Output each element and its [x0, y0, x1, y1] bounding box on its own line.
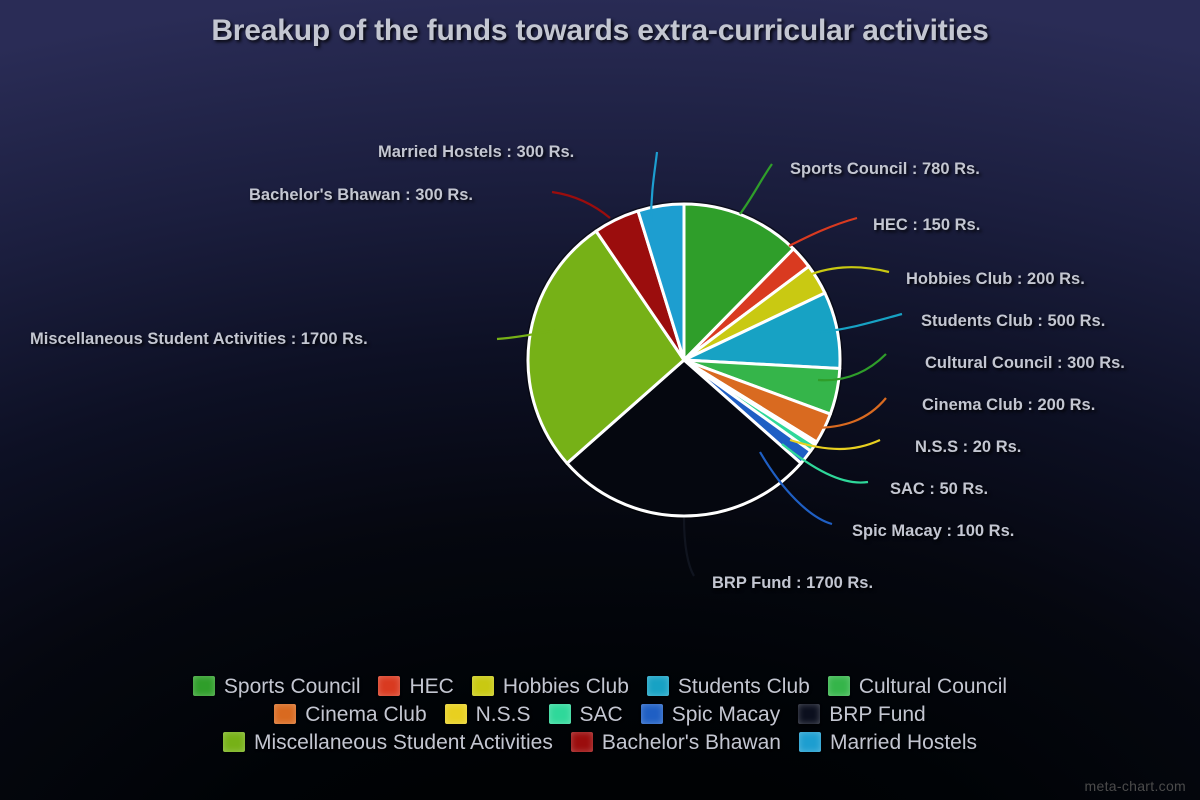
legend-swatch-icon [445, 704, 467, 724]
legend-item-sports-council[interactable]: Sports Council [193, 672, 361, 700]
callout-label-spic-macay: Spic Macay : 100 Rs. [852, 522, 1014, 541]
legend-swatch-icon [571, 732, 593, 752]
legend-item-brp-fund[interactable]: BRP Fund [798, 700, 926, 728]
callout-label-married-hostels: Married Hostels : 300 Rs. [378, 143, 574, 162]
legend-item-label: Hobbies Club [503, 676, 629, 697]
legend-row: Sports CouncilHECHobbies ClubStudents Cl… [60, 672, 1140, 700]
callout-label-cinema-club: Cinema Club : 200 Rs. [922, 396, 1095, 415]
legend-item-label: Miscellaneous Student Activities [254, 732, 553, 753]
legend-swatch-icon [549, 704, 571, 724]
callout-label-hobbies-club: Hobbies Club : 200 Rs. [906, 270, 1085, 289]
legend-item-label: Cultural Council [859, 676, 1007, 697]
legend-swatch-icon [472, 676, 494, 696]
legend-item-label: BRP Fund [829, 704, 926, 725]
legend-item-n-s-s[interactable]: N.S.S [445, 700, 531, 728]
leader-line-bachelors-bhawan [552, 192, 610, 218]
legend-row: Miscellaneous Student ActivitiesBachelor… [60, 728, 1140, 756]
legend-swatch-icon [641, 704, 663, 724]
legend-item-hobbies-club[interactable]: Hobbies Club [472, 672, 629, 700]
legend-swatch-icon [798, 704, 820, 724]
legend-item-bachelor-s-bhawan[interactable]: Bachelor's Bhawan [571, 728, 781, 756]
chart-legend: Sports CouncilHECHobbies ClubStudents Cl… [0, 672, 1200, 756]
legend-swatch-icon [223, 732, 245, 752]
leader-line-hec [789, 218, 857, 246]
legend-item-sac[interactable]: SAC [549, 700, 623, 728]
callout-label-sports-council: Sports Council : 780 Rs. [790, 160, 980, 179]
legend-item-married-hostels[interactable]: Married Hostels [799, 728, 977, 756]
legend-item-label: SAC [580, 704, 623, 725]
legend-swatch-icon [799, 732, 821, 752]
legend-row: Cinema ClubN.S.SSACSpic MacayBRP Fund [60, 700, 1140, 728]
legend-item-label: Sports Council [224, 676, 361, 697]
legend-item-spic-macay[interactable]: Spic Macay [641, 700, 781, 728]
legend-swatch-icon [378, 676, 400, 696]
leader-line-brp-fund [684, 518, 694, 576]
legend-item-label: N.S.S [476, 704, 531, 725]
legend-item-cinema-club[interactable]: Cinema Club [274, 700, 426, 728]
callout-label-sac: SAC : 50 Rs. [890, 480, 988, 499]
legend-item-label: Cinema Club [305, 704, 426, 725]
callout-label-nss: N.S.S : 20 Rs. [915, 438, 1021, 457]
leader-line-sports-council [740, 164, 772, 214]
legend-item-cultural-council[interactable]: Cultural Council [828, 672, 1007, 700]
chart-canvas: Breakup of the funds towards extra-curri… [0, 0, 1200, 800]
legend-item-label: HEC [409, 676, 453, 697]
legend-item-students-club[interactable]: Students Club [647, 672, 810, 700]
callout-label-cultural-council: Cultural Council : 300 Rs. [925, 354, 1125, 373]
callout-label-bachelors-bhawan: Bachelor's Bhawan : 300 Rs. [249, 186, 473, 205]
callout-label-miscellaneous: Miscellaneous Student Activities : 1700 … [30, 330, 368, 349]
legend-item-miscellaneous-student-activities[interactable]: Miscellaneous Student Activities [223, 728, 553, 756]
callout-label-hec: HEC : 150 Rs. [873, 216, 980, 235]
legend-swatch-icon [647, 676, 669, 696]
legend-swatch-icon [193, 676, 215, 696]
legend-item-hec[interactable]: HEC [378, 672, 453, 700]
legend-item-label: Married Hostels [830, 732, 977, 753]
callout-label-brp-fund: BRP Fund : 1700 Rs. [712, 574, 873, 593]
legend-swatch-icon [274, 704, 296, 724]
watermark-label: meta-chart.com [1085, 778, 1186, 794]
callout-label-students-club: Students Club : 500 Rs. [921, 312, 1105, 331]
legend-item-label: Bachelor's Bhawan [602, 732, 781, 753]
legend-item-label: Spic Macay [672, 704, 781, 725]
legend-swatch-icon [828, 676, 850, 696]
legend-item-label: Students Club [678, 676, 810, 697]
